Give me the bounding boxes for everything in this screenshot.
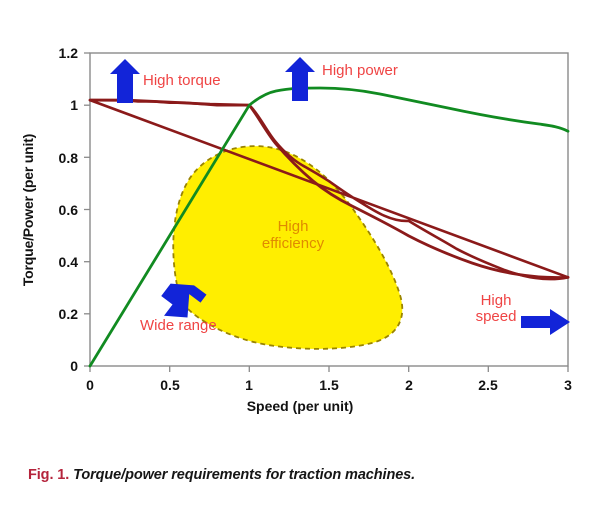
y-tick-label-1-2: 1.2 xyxy=(30,45,78,61)
y-tick-label-0: 0 xyxy=(30,358,78,374)
figure-container: Torque/Power (per unit) 0 0.2 0.4 0.6 0.… xyxy=(0,0,600,506)
x-tick-label-2: 2 xyxy=(387,377,431,393)
x-tick-label-0-5: 0.5 xyxy=(148,377,192,393)
high-speed-label-line-2: speed xyxy=(476,308,517,325)
figure-number: Fig. 1. xyxy=(28,467,69,483)
x-tick-label-3: 3 xyxy=(546,377,590,393)
y-tick-label-0-2: 0.2 xyxy=(30,306,78,322)
y-tick-label-0-6: 0.6 xyxy=(30,202,78,218)
figure-caption-text: Torque/power requirements for traction m… xyxy=(73,467,415,483)
y-tick-label-0-4: 0.4 xyxy=(30,254,78,270)
high-power-label: High power xyxy=(322,63,398,79)
x-axis-ticks xyxy=(90,366,568,372)
wide-range-label: Wide range xyxy=(140,318,217,334)
high-efficiency-label-line-1: High xyxy=(278,218,309,235)
x-tick-label-1: 1 xyxy=(227,377,271,393)
high-efficiency-label: High efficiency xyxy=(238,218,348,253)
high-speed-label-line-1: High xyxy=(481,292,512,309)
x-axis-title: Speed (per unit) xyxy=(0,398,600,414)
chart-canvas xyxy=(0,0,600,506)
x-tick-label-2-5: 2.5 xyxy=(466,377,510,393)
high-efficiency-label-line-2: efficiency xyxy=(262,235,324,252)
figure-caption: Fig. 1. Torque/power requirements for tr… xyxy=(28,467,580,483)
high-torque-label: High torque xyxy=(143,73,221,89)
y-tick-label-1: 1 xyxy=(30,97,78,113)
x-tick-label-1-5: 1.5 xyxy=(307,377,351,393)
x-tick-label-0: 0 xyxy=(68,377,112,393)
y-tick-label-0-8: 0.8 xyxy=(30,150,78,166)
high-speed-label: High speed xyxy=(470,293,522,325)
